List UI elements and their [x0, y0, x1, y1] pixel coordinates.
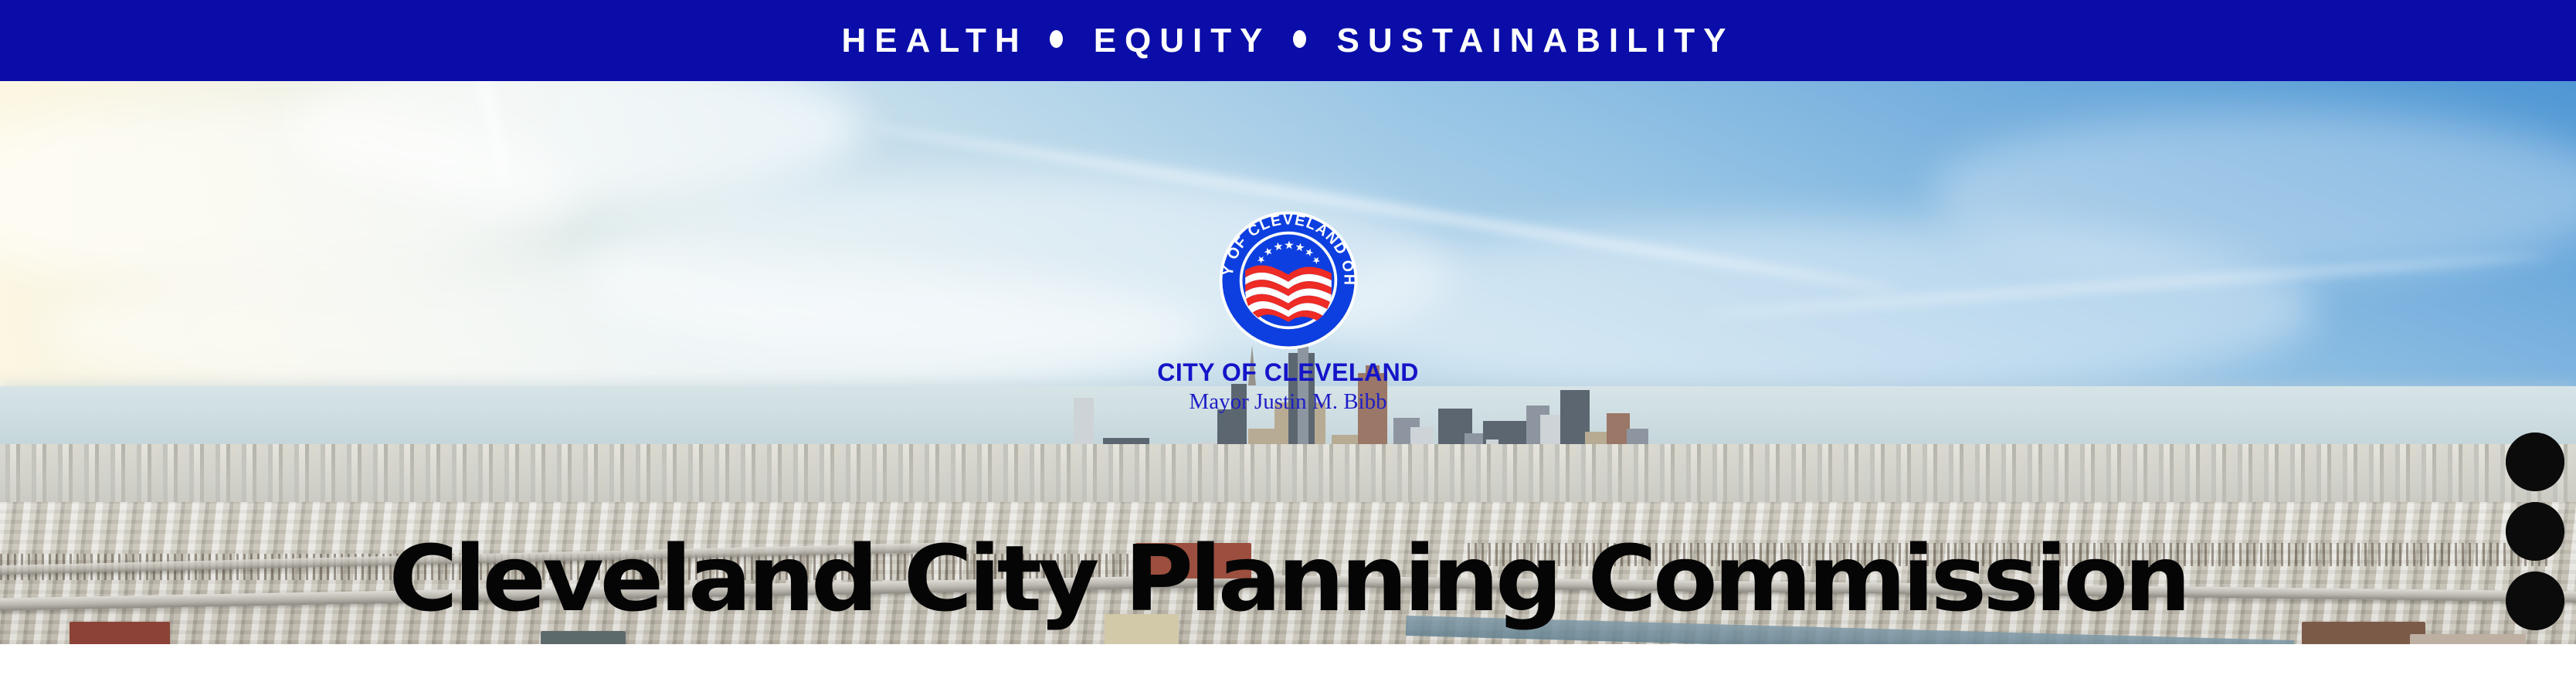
hero-photo: CITY OF CLEVELAND OHIO — [0, 81, 2576, 644]
facebook-icon — [2506, 572, 2564, 630]
page-title: Cleveland City Planning Commission — [0, 533, 2576, 624]
city-of-cleveland-seal-icon: CITY OF CLEVELAND OHIO — [1217, 209, 1360, 352]
building-roof — [541, 631, 626, 644]
bullet-dot-icon — [1050, 30, 1063, 48]
banner-tagline: HEALTHEQUITYSUSTAINABILITY — [842, 24, 1735, 58]
page-root: HEALTHEQUITYSUSTAINABILITY — [0, 0, 2576, 682]
bottom-white-strip — [0, 644, 2576, 682]
banner-word-health: HEALTH — [842, 22, 1028, 59]
youtube-link[interactable] — [2506, 433, 2564, 491]
social-links — [2506, 433, 2564, 630]
instagram-link[interactable] — [2506, 502, 2564, 561]
city-logo-block: CITY OF CLEVELAND OHIO — [1072, 209, 1505, 413]
banner-word-equity: EQUITY — [1094, 22, 1271, 59]
org-name: CITY OF CLEVELAND — [1072, 360, 1505, 386]
youtube-icon — [2506, 433, 2564, 491]
instagram-icon — [2506, 502, 2564, 561]
mayor-name: Mayor Justin M. Bibb — [1072, 390, 1505, 413]
building-roof — [2410, 634, 2526, 644]
facebook-link[interactable] — [2506, 572, 2564, 630]
bullet-dot-icon — [1293, 30, 1306, 48]
building-roof — [2302, 622, 2425, 644]
building-roof — [70, 622, 170, 644]
top-banner: HEALTHEQUITYSUSTAINABILITY — [0, 0, 2576, 81]
banner-word-sustainability: SUSTAINABILITY — [1337, 22, 1735, 59]
